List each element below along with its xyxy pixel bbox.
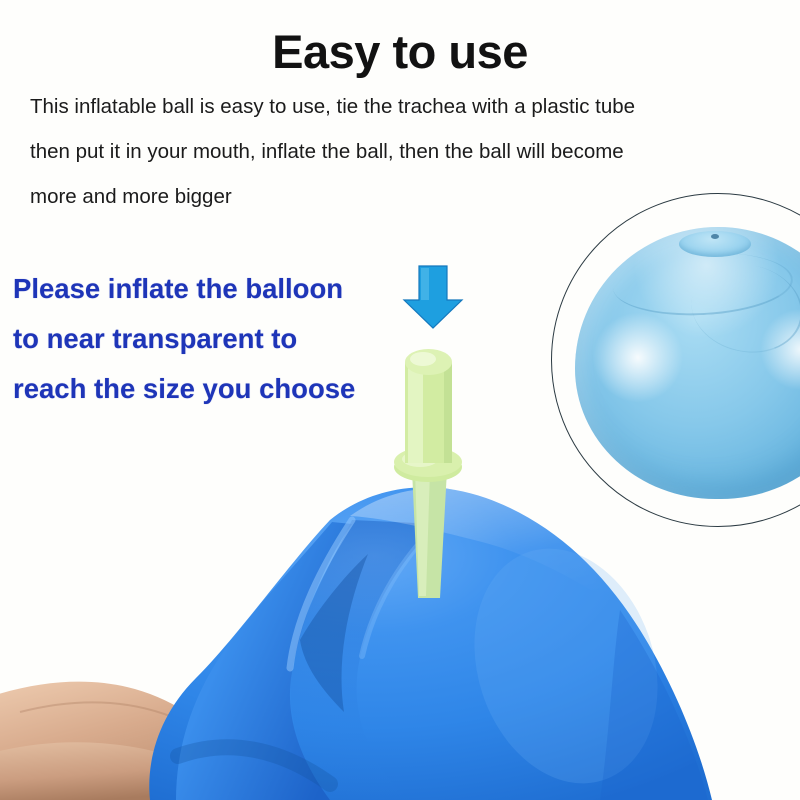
hand-fingers xyxy=(0,682,282,800)
body-line-3: more and more bigger xyxy=(30,174,800,219)
body-line-2: then put it in your mouth, inflate the b… xyxy=(30,129,800,174)
callout-line-1: Please inflate the balloon xyxy=(13,264,355,314)
body-line-1: This inflatable ball is easy to use, tie… xyxy=(30,84,800,129)
page-title: Easy to use xyxy=(0,25,800,79)
callout-line-2: to near transparent to xyxy=(13,314,355,364)
arrow-down-icon xyxy=(404,266,462,328)
inflated-ball-inset xyxy=(551,193,800,527)
green-nozzle-tube xyxy=(394,349,462,598)
blue-balloon xyxy=(149,487,712,800)
inflate-instruction-callout: Please inflate the balloon to near trans… xyxy=(13,264,355,414)
callout-line-3: reach the size you choose xyxy=(13,364,355,414)
inset-ball-valve-hole xyxy=(711,234,719,239)
body-paragraph: This inflatable ball is easy to use, tie… xyxy=(30,84,800,219)
product-infographic: Easy to use This inflatable ball is easy… xyxy=(0,0,800,800)
